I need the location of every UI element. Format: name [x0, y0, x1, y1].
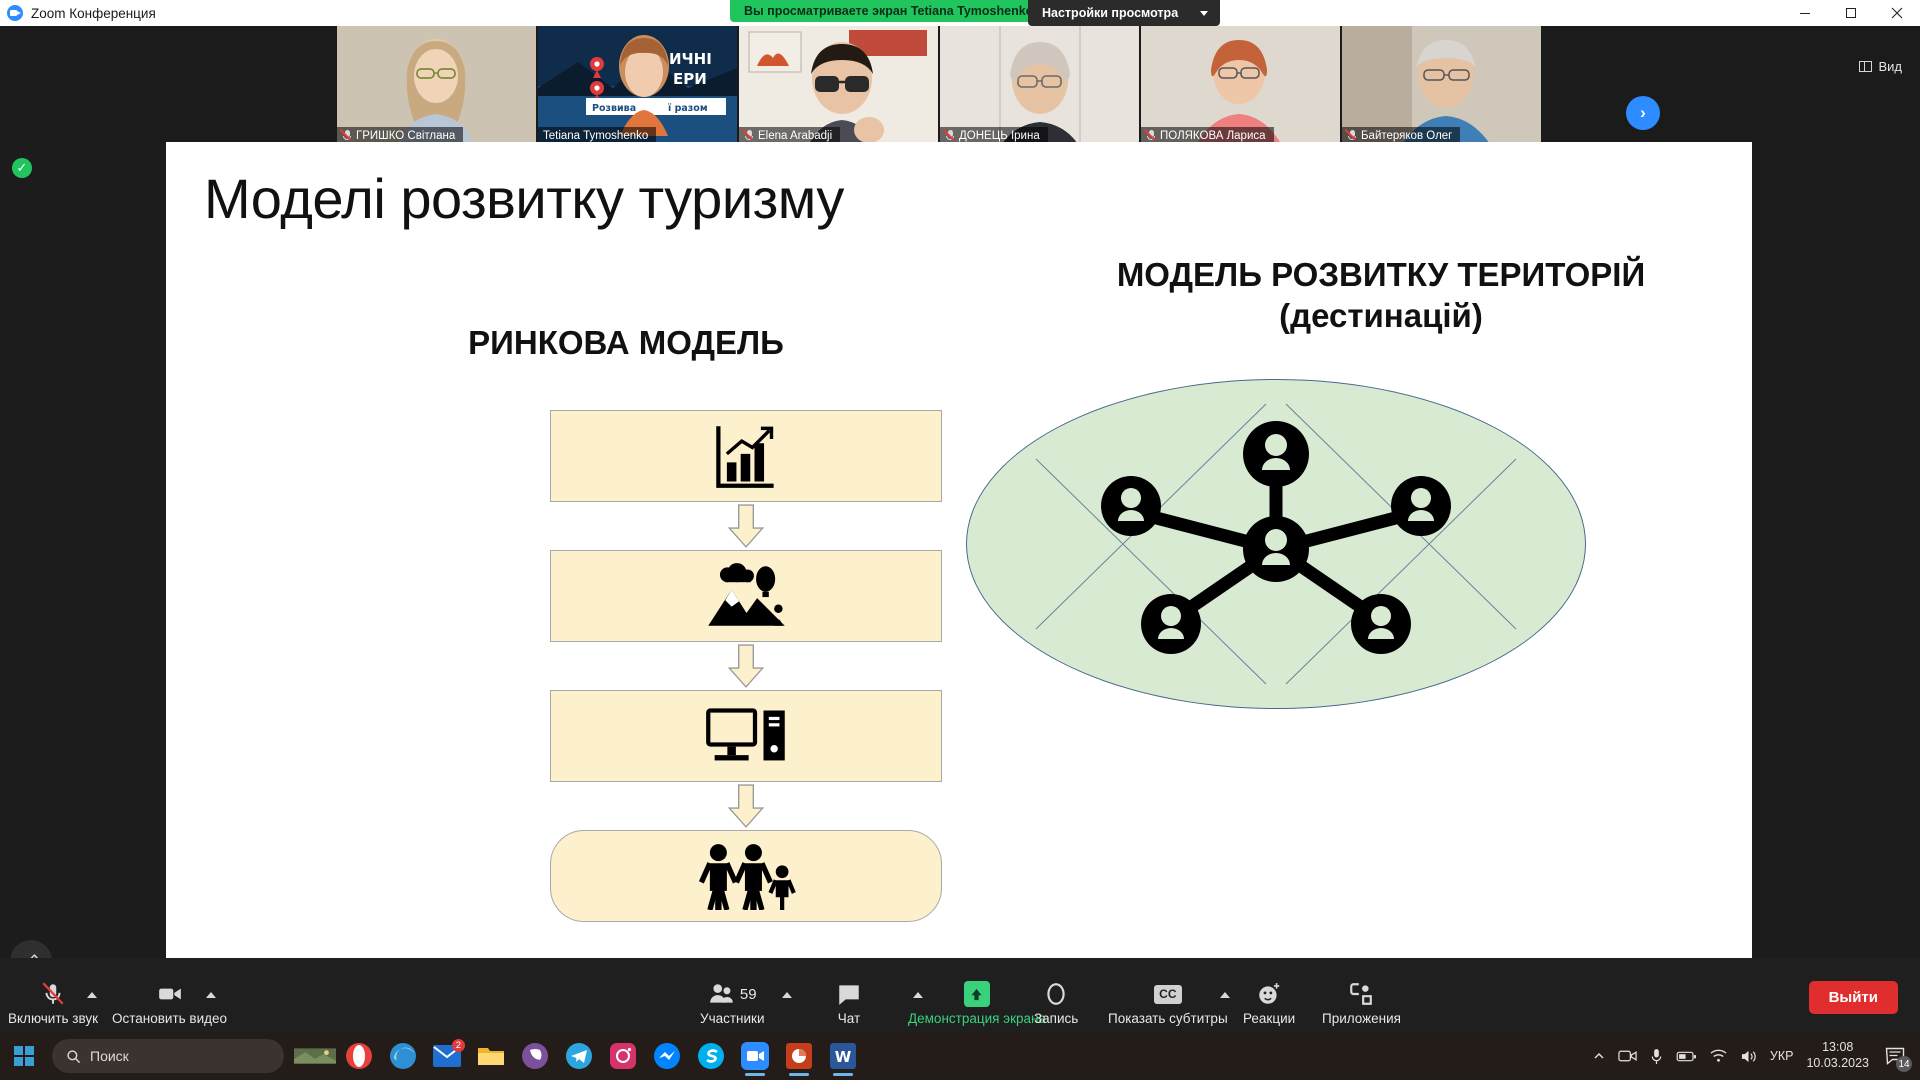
participant-tile[interactable]: ГРИШКО Світлана	[337, 26, 536, 144]
arrow-down-icon	[723, 643, 769, 689]
taskbar-clock[interactable]: 13:08 10.03.2023	[1806, 1040, 1869, 1071]
flow-box-family	[550, 830, 942, 922]
participant-tile-active[interactable]: ИЧНІ ЕРИ Розвива ї разом Tetiana Tymoshe…	[538, 26, 737, 144]
messenger-icon	[653, 1042, 681, 1070]
closed-captions-icon: CC	[1154, 979, 1182, 1009]
closed-captions-label: Показать субтитры	[1108, 1011, 1228, 1026]
left-column-heading: РИНКОВА МОДЕЛЬ	[396, 322, 856, 363]
volume-icon[interactable]	[1740, 1049, 1757, 1064]
market-model-flowchart	[550, 410, 942, 922]
participants-chevron-up-icon[interactable]	[782, 992, 792, 998]
word-icon: W	[830, 1043, 856, 1069]
view-layout-icon	[1859, 61, 1872, 72]
network-hub-people-icon	[966, 379, 1586, 709]
view-settings-button[interactable]: Настройки просмотра	[1028, 0, 1220, 26]
right-heading-line-2: (дестинацій)	[961, 295, 1752, 336]
chevron-down-icon	[1200, 11, 1208, 16]
powerpoint-icon	[786, 1043, 812, 1069]
search-icon	[66, 1049, 81, 1064]
participant-name: ДОНЕЦЬ Ірина	[959, 130, 1040, 142]
unmute-label: Включить звук	[8, 1011, 98, 1026]
view-settings-label: Настройки просмотра	[1042, 6, 1178, 20]
taskbar-app-viber[interactable]	[514, 1035, 556, 1077]
weather-widget[interactable]	[294, 1035, 336, 1077]
stop-video-button[interactable]: Остановить видео	[112, 979, 227, 1026]
svg-text:ЕРИ: ЕРИ	[673, 70, 707, 88]
participant-name: Tetiana Tymoshenko	[543, 130, 648, 142]
flow-arrow	[550, 642, 942, 690]
windows-start-button[interactable]	[0, 1032, 48, 1080]
taskbar-search-label: Поиск	[90, 1048, 129, 1064]
share-screen-icon	[964, 979, 990, 1009]
microphone-muted-icon	[342, 130, 352, 142]
right-heading-line-1: МОДЕЛЬ РОЗВИТКУ ТЕРИТОРІЙ	[961, 254, 1752, 295]
check-shield-icon: ✓	[12, 158, 32, 178]
skype-icon	[697, 1042, 725, 1070]
notification-center-button[interactable]: 14	[1882, 1043, 1908, 1069]
meeting-toolbar: Включить звук Остановить видео	[0, 958, 1920, 1032]
share-screen-label: Демонстрация экрана	[908, 1011, 1046, 1026]
apps-label: Приложения	[1322, 1011, 1401, 1026]
taskbar-app-messenger[interactable]	[646, 1035, 688, 1077]
weather-icon	[294, 1040, 336, 1072]
chat-label: Чат	[838, 1011, 860, 1026]
chevron-right-icon: ›	[1640, 103, 1646, 123]
zoom-meeting-window: Zoom Конференция Вы просматриваете экран…	[0, 0, 1920, 1080]
chat-button[interactable]: Чат	[836, 979, 862, 1026]
flow-box-computer	[550, 690, 942, 782]
instagram-icon	[610, 1043, 636, 1069]
taskbar-app-skype[interactable]	[690, 1035, 732, 1077]
apps-button[interactable]: Приложения	[1322, 979, 1401, 1026]
share-screen-button[interactable]: Демонстрация экрана	[908, 979, 1046, 1026]
windows-taskbar: Поиск	[0, 1032, 1920, 1080]
participant-tile[interactable]: ПОЛЯКОВА Лариса	[1141, 26, 1340, 144]
participant-video-strip: ГРИШКО Світлана ИЧНІ ЕРИ Розвива ї разом	[0, 26, 1920, 144]
microphone-muted-icon	[40, 979, 66, 1009]
microphone-icon[interactable]	[1650, 1048, 1663, 1065]
zoom-logo-icon	[7, 5, 23, 21]
reactions-button[interactable]: Реакции	[1243, 979, 1295, 1026]
taskbar-app-opera[interactable]	[338, 1035, 380, 1077]
telegram-icon	[565, 1042, 593, 1070]
flow-arrow	[550, 782, 942, 830]
taskbar-search-input[interactable]: Поиск	[52, 1039, 284, 1073]
view-layout-label: Вид	[1878, 59, 1902, 74]
camera-icon[interactable]	[1618, 1048, 1637, 1064]
participant-name: Elena Arabadji	[758, 130, 832, 142]
wifi-icon[interactable]	[1710, 1049, 1727, 1063]
participant-tile[interactable]: Байтеряков Олег	[1342, 26, 1541, 144]
participants-button[interactable]: 59 Участники	[700, 979, 765, 1026]
participants-count: 59	[740, 986, 757, 1003]
right-column-heading: МОДЕЛЬ РОЗВИТКУ ТЕРИТОРІЙ (дестинацій)	[961, 254, 1752, 337]
record-button[interactable]: Запись	[1034, 979, 1078, 1026]
captions-chevron-up-icon[interactable]	[1220, 992, 1230, 998]
file-explorer-icon	[477, 1045, 505, 1068]
flow-arrow	[550, 502, 942, 550]
svg-text:ИЧНІ: ИЧНІ	[669, 50, 712, 68]
slide-title: Моделі розвитку туризму	[204, 166, 844, 231]
battery-icon[interactable]	[1676, 1050, 1697, 1063]
screen-share-banner-text: Вы просматриваете экран Tetiana Tymoshen…	[744, 4, 1033, 18]
input-language[interactable]: УКР	[1770, 1049, 1794, 1063]
closed-captions-button[interactable]: CC Показать субтитры	[1108, 979, 1228, 1026]
screen-share-banner: Вы просматриваете экран Tetiana Tymoshen…	[730, 0, 1047, 22]
chat-bubble-icon	[836, 979, 862, 1009]
participant-tile[interactable]: ДОНЕЦЬ Ірина	[940, 26, 1139, 144]
bar-chart-growth-icon	[712, 422, 780, 490]
mail-badge: 2	[452, 1039, 465, 1052]
maximize-button[interactable]	[1828, 0, 1874, 26]
taskbar-app-powerpoint[interactable]	[778, 1035, 820, 1077]
microphone-muted-icon	[1347, 130, 1357, 142]
taskbar-app-file-explorer[interactable]	[470, 1035, 512, 1077]
taskbar-app-instagram[interactable]	[602, 1035, 644, 1077]
microphone-muted-icon	[1146, 130, 1156, 142]
next-participants-button[interactable]: ›	[1626, 96, 1660, 130]
taskbar-app-zoom[interactable]	[734, 1035, 776, 1077]
taskbar-app-telegram[interactable]	[558, 1035, 600, 1077]
svg-text:W: W	[835, 1048, 852, 1066]
minimize-button[interactable]	[1782, 0, 1828, 26]
participants-icon: 59	[708, 979, 757, 1009]
taskbar-app-word[interactable]: W	[822, 1035, 864, 1077]
record-icon	[1043, 979, 1069, 1009]
participant-name: Байтеряков Олег	[1361, 130, 1452, 142]
opera-icon	[345, 1042, 373, 1070]
clock-time: 13:08	[1806, 1040, 1869, 1056]
family-people-icon	[695, 842, 797, 910]
apps-icon	[1348, 979, 1374, 1009]
check-glyph: ✓	[17, 160, 28, 176]
participants-label: Участники	[700, 1011, 765, 1026]
flow-box-chart	[550, 410, 942, 502]
desktop-computer-icon	[704, 702, 789, 770]
record-label: Запись	[1034, 1011, 1078, 1026]
audio-options-chevron-up-icon[interactable]	[87, 992, 97, 998]
view-layout-button[interactable]: Вид	[1859, 59, 1902, 74]
window-title: Zoom Конференция	[31, 6, 156, 21]
leave-meeting-label: Выйти	[1829, 989, 1878, 1006]
reactions-smiley-icon	[1256, 979, 1282, 1009]
flow-box-nature	[550, 550, 942, 642]
reactions-label: Реакции	[1243, 1011, 1295, 1026]
mountain-balloon-icon	[704, 562, 789, 630]
participant-tile[interactable]: Elena Arabadji	[739, 26, 938, 144]
windows-start-icon	[14, 1046, 34, 1066]
shared-slide: Моделі розвитку туризму РИНКОВА МОДЕЛЬ М…	[166, 142, 1752, 988]
svg-text:Розвива: Розвива	[592, 103, 636, 114]
destination-model-diagram	[966, 379, 1586, 709]
leave-meeting-button[interactable]: Выйти	[1809, 981, 1898, 1014]
unmute-button[interactable]: Включить звук	[8, 979, 98, 1026]
participant-name: ПОЛЯКОВА Лариса	[1160, 130, 1266, 142]
taskbar-app-edge[interactable]	[382, 1035, 424, 1077]
svg-text:ї разом: ї разом	[668, 103, 708, 114]
viber-icon	[521, 1042, 549, 1070]
arrow-down-icon	[723, 783, 769, 829]
microphone-muted-icon	[744, 130, 754, 142]
video-options-chevron-up-icon[interactable]	[206, 992, 216, 998]
stop-video-label: Остановить видео	[112, 1011, 227, 1026]
participant-name: ГРИШКО Світлана	[356, 130, 455, 142]
clock-date: 10.03.2023	[1806, 1056, 1869, 1072]
zoom-icon	[741, 1042, 769, 1070]
taskbar-app-mail[interactable]: 2	[426, 1035, 468, 1077]
close-button[interactable]	[1874, 0, 1920, 26]
notification-count: 14	[1896, 1056, 1912, 1072]
chevron-up-icon[interactable]	[1593, 1050, 1605, 1062]
video-camera-icon	[157, 979, 183, 1009]
arrow-down-icon	[723, 503, 769, 549]
edge-icon	[389, 1042, 417, 1070]
window-controls	[1782, 0, 1920, 26]
system-tray: УКР 13:08 10.03.2023 14	[1593, 1032, 1920, 1080]
taskbar-app-icons: 2	[294, 1035, 864, 1077]
microphone-muted-icon	[945, 130, 955, 142]
